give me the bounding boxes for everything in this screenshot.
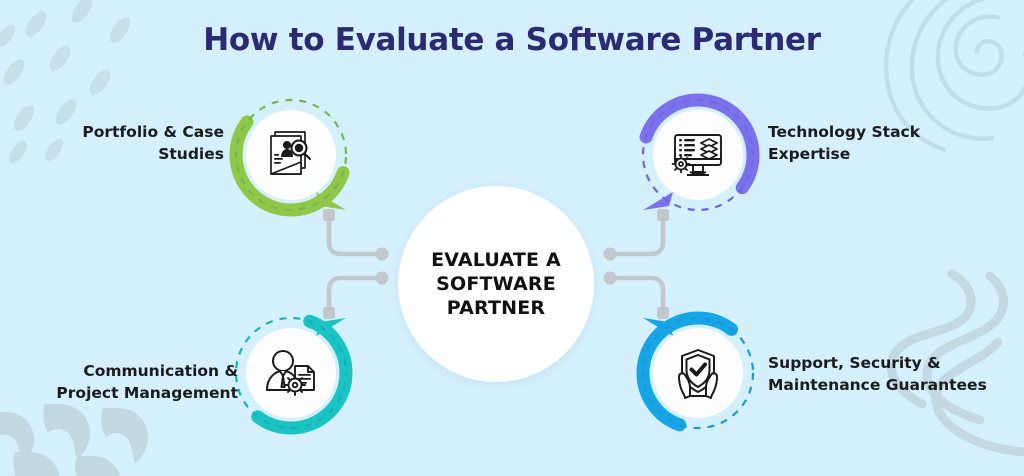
node-icon-wrapper	[653, 328, 743, 418]
node-support-security-maintenance[interactable]	[645, 320, 751, 426]
node-portfolio-case-studies[interactable]	[238, 102, 344, 208]
person-document-gear-icon	[262, 344, 320, 402]
hub-line-2: SOFTWARE	[431, 272, 561, 296]
node-icon-wrapper	[246, 328, 336, 418]
document-person-magnifier-icon	[262, 126, 320, 184]
connector-cap-dot-tr	[604, 248, 617, 261]
crescent-shapes-deco	[0, 404, 148, 476]
connector-cap-dot-br	[604, 272, 617, 285]
node-icon-wrapper	[653, 110, 743, 200]
node-technology-stack-expertise[interactable]	[645, 102, 751, 208]
connector-cap-dot-tl	[376, 248, 389, 261]
hub-line-3: PARTNER	[431, 296, 561, 320]
hub-line-1: EVALUATE A	[431, 248, 561, 272]
shield-check-hands-icon	[669, 344, 727, 402]
ring-pointer-tail	[643, 192, 673, 210]
label-line-2: Expertise	[768, 143, 1018, 165]
page-title: How to Evaluate a Software Partner	[0, 22, 1024, 58]
center-hub-text: EVALUATE A SOFTWARE PARTNER	[431, 248, 561, 321]
label-support-security-maintenance: Support, Security & Maintenance Guarante…	[768, 352, 1020, 397]
label-line-2: Maintenance Guarantees	[768, 374, 1020, 396]
label-portfolio-case-studies: Portfolio & Case Studies	[0, 121, 224, 166]
label-line-1: Support, Security &	[768, 352, 1020, 374]
infographic-canvas: How to Evaluate a Software Partner EVALU…	[0, 0, 1024, 476]
label-line-2: Project Management	[0, 382, 238, 404]
label-communication-project-management: Communication & Project Management	[0, 360, 238, 405]
label-technology-stack-expertise: Technology Stack Expertise	[768, 121, 1018, 166]
label-line-1: Portfolio & Case	[0, 121, 224, 143]
node-icon-wrapper	[246, 110, 336, 200]
label-line-1: Communication &	[0, 360, 238, 382]
label-line-2: Studies	[0, 143, 224, 165]
label-line-1: Technology Stack	[768, 121, 1018, 143]
connector-cap-dot-bl	[376, 272, 389, 285]
node-communication-project-management[interactable]	[238, 320, 344, 426]
monitor-stack-gear-icon	[669, 126, 727, 184]
center-hub: EVALUATE A SOFTWARE PARTNER	[398, 186, 594, 382]
